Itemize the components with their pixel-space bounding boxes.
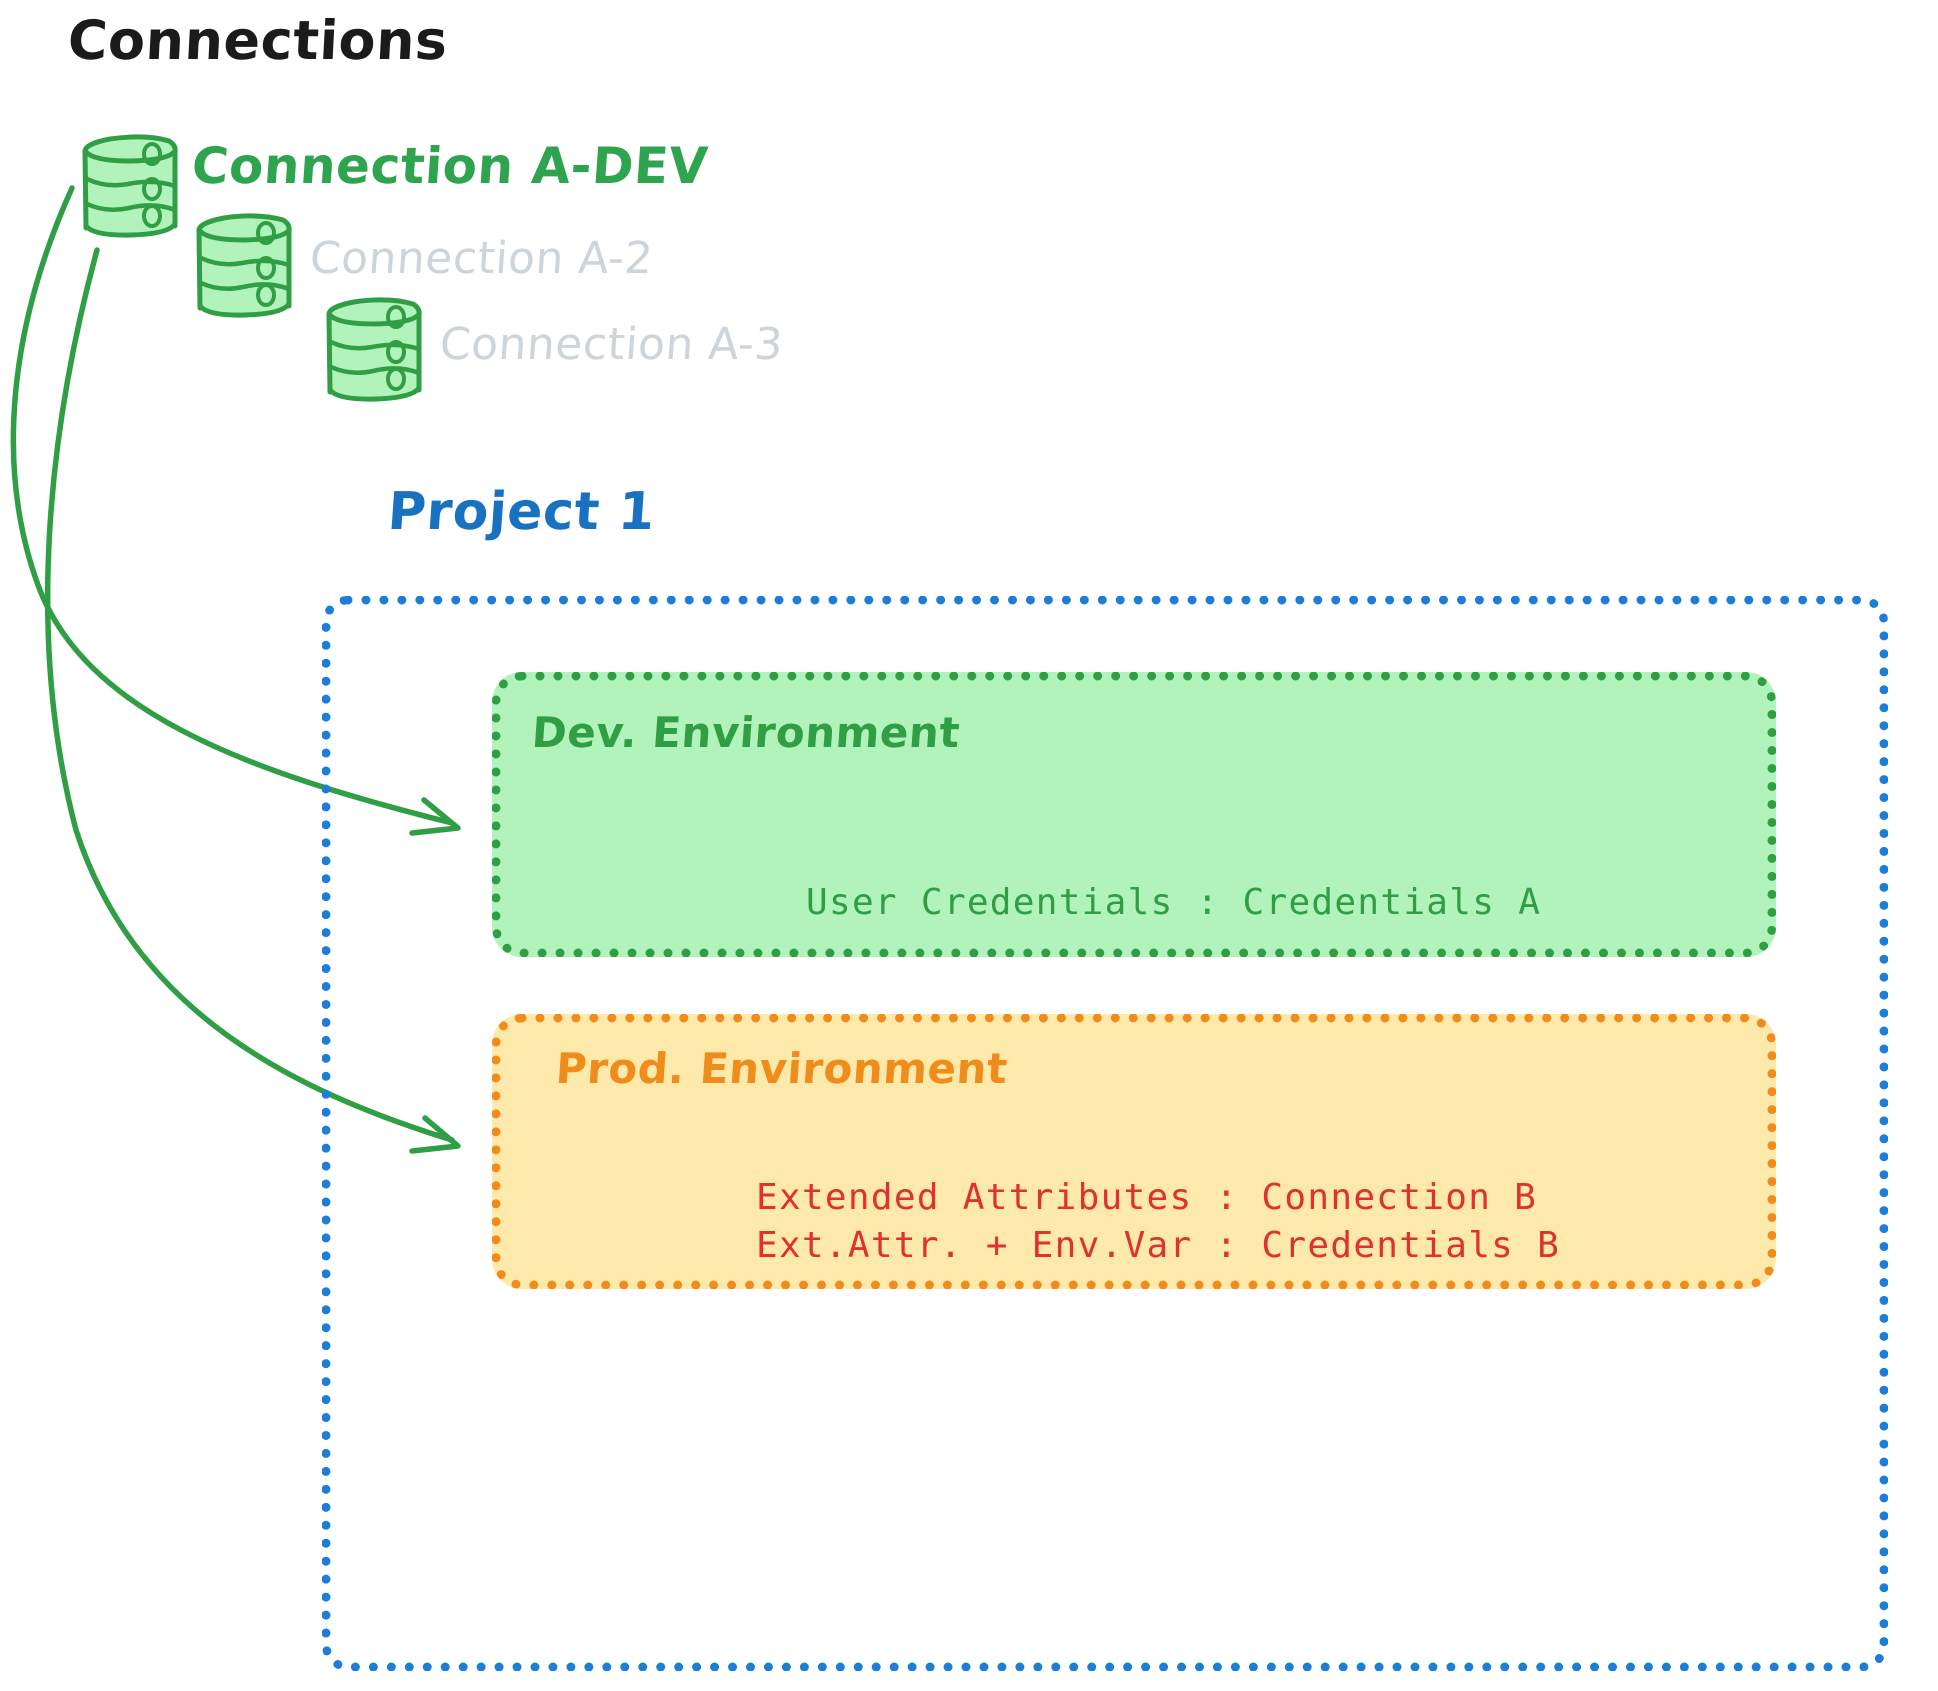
- prod-extended-attributes-row: Extended Attributes : Connection B: [756, 1180, 1537, 1216]
- connection-label-a-2[interactable]: Connection A-2: [308, 237, 654, 281]
- prod-environment-title: Prod. Environment: [555, 1048, 1009, 1090]
- project-title: Project 1: [386, 486, 657, 538]
- page-title: Connections: [67, 14, 450, 68]
- database-icon-connection-a-dev[interactable]: [85, 137, 175, 235]
- dev-environment-title: Dev. Environment: [531, 712, 962, 754]
- connection-label-a-dev[interactable]: Connection A-DEV: [190, 141, 709, 191]
- dev-user-credentials-row: User Credentials : Credentials A: [806, 885, 1541, 921]
- database-icon-connection-a-2[interactable]: [199, 216, 289, 315]
- database-icon-connection-a-3[interactable]: [329, 300, 419, 399]
- connection-label-a-3[interactable]: Connection A-3: [438, 323, 784, 367]
- prod-ext-attr-env-var-row: Ext.Attr. + Env.Var : Credentials B: [756, 1228, 1560, 1264]
